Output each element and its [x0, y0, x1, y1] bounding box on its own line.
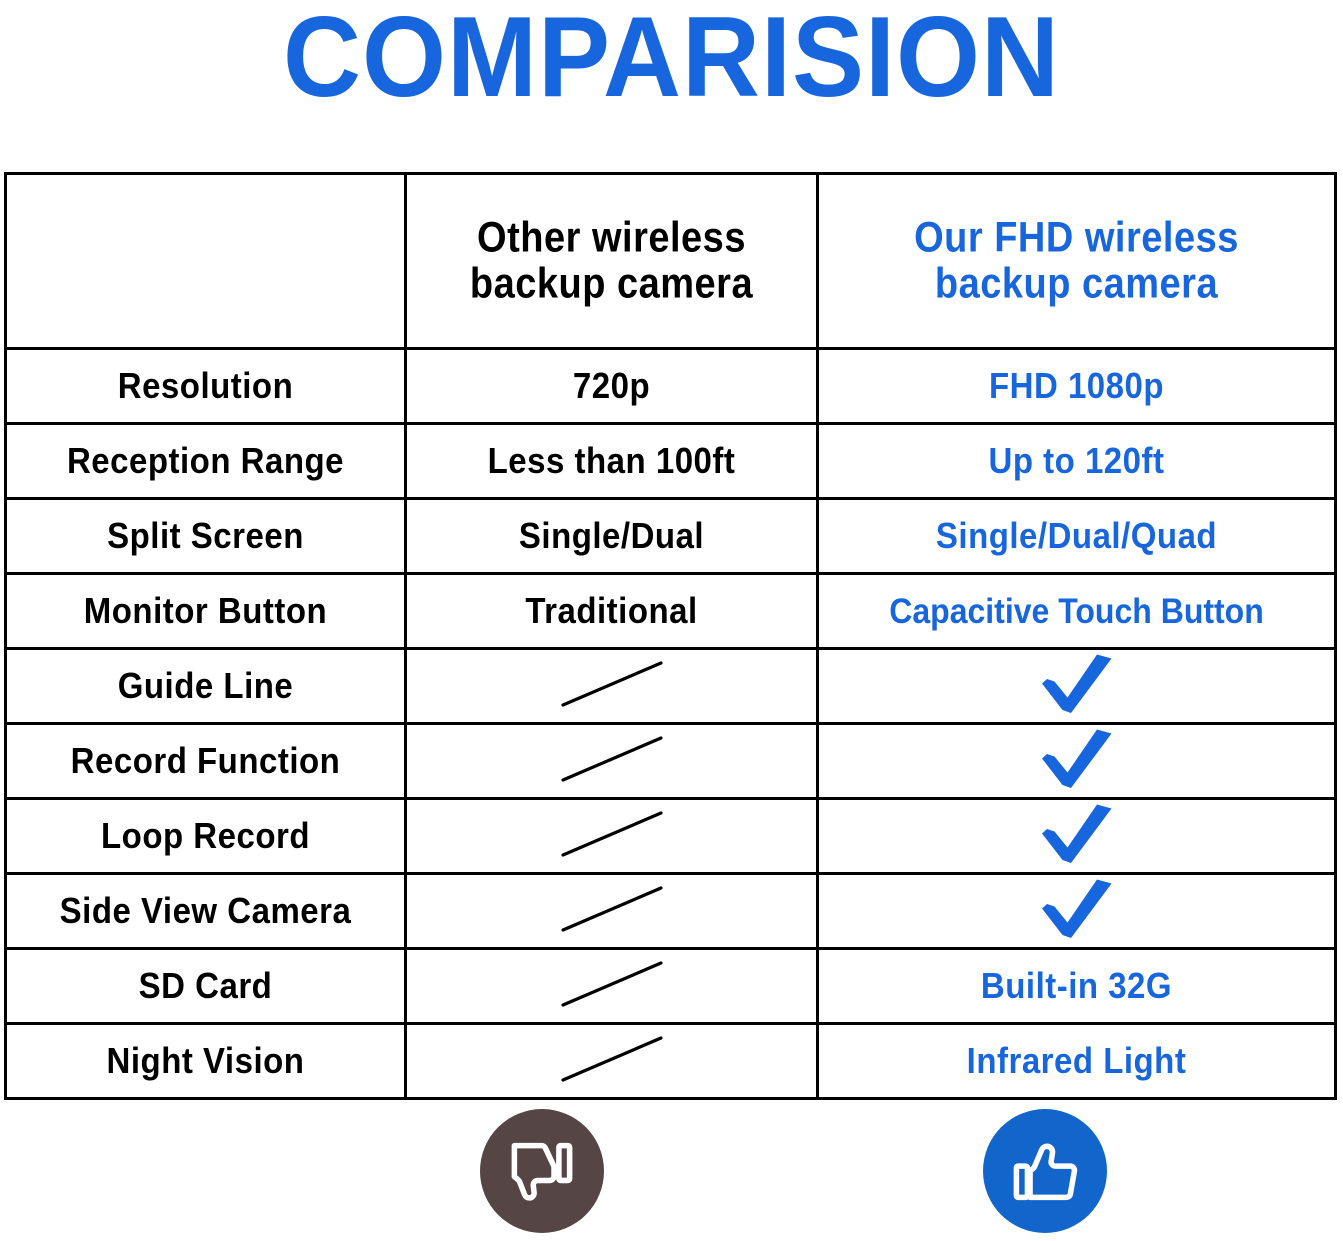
cell-feature: Side View Camera — [6, 874, 406, 949]
feature-label: Monitor Button — [84, 590, 327, 632]
cell-other — [406, 799, 818, 874]
cell-other — [406, 1024, 818, 1099]
table-row: Night VisionInfrared Light — [6, 1024, 1336, 1099]
ours-value: Single/Dual/Quad — [936, 515, 1217, 557]
cell-ours: Capacitive Touch Button — [818, 574, 1336, 649]
cell-other — [406, 724, 818, 799]
footer-icons-row — [4, 1104, 1337, 1241]
feature-label: Record Function — [71, 740, 341, 782]
cell-feature: Guide Line — [6, 649, 406, 724]
feature-label: Reception Range — [67, 440, 344, 482]
cell-ours — [818, 724, 1336, 799]
cell-feature: Monitor Button — [6, 574, 406, 649]
table-row: Monitor ButtonTraditionalCapacitive Touc… — [6, 574, 1336, 649]
table-row: Record Function — [6, 724, 1336, 799]
feature-label: Night Vision — [107, 1040, 305, 1082]
cell-feature: Resolution — [6, 349, 406, 424]
cell-ours — [818, 799, 1336, 874]
cell-feature: Split Screen — [6, 499, 406, 574]
feature-label: Loop Record — [101, 815, 310, 857]
table-row: Loop Record — [6, 799, 1336, 874]
checkmark-icon — [1040, 803, 1114, 865]
checkmark-icon — [1040, 878, 1114, 940]
cell-ours: Single/Dual/Quad — [818, 499, 1336, 574]
header-ours-line2: backup camera — [935, 258, 1218, 310]
ours-value: Infrared Light — [967, 1040, 1187, 1082]
ours-value: Capacitive Touch Button — [889, 590, 1264, 632]
feature-label: Guide Line — [118, 665, 294, 707]
header-other-line2: backup camera — [470, 258, 753, 310]
header-cell-feature — [6, 174, 406, 349]
cell-other — [406, 874, 818, 949]
not-available-slash-icon — [560, 885, 664, 933]
header-cell-other: Other wireless backup camera — [406, 174, 818, 349]
table-body: Other wireless backup camera Our FHD wir… — [6, 174, 1336, 1099]
cell-ours: Up to 120ft — [818, 424, 1336, 499]
table-row: Side View Camera — [6, 874, 1336, 949]
table-row: SD CardBuilt-in 32G — [6, 949, 1336, 1024]
comparison-table: Other wireless backup camera Our FHD wir… — [4, 172, 1337, 1100]
ours-value: FHD 1080p — [989, 365, 1164, 407]
table-header-row: Other wireless backup camera Our FHD wir… — [6, 174, 1336, 349]
cell-feature: Night Vision — [6, 1024, 406, 1099]
thumbs-up-badge — [983, 1109, 1107, 1233]
other-value: Traditional — [525, 590, 697, 632]
not-available-slash-icon — [560, 1035, 664, 1083]
feature-label: Resolution — [118, 365, 294, 407]
checkmark-icon — [1040, 728, 1114, 790]
header-other-line1: Other wireless — [477, 212, 746, 264]
checkmark-icon — [1040, 653, 1114, 715]
cell-feature: SD Card — [6, 949, 406, 1024]
other-value: Less than 100ft — [488, 440, 736, 482]
cell-ours — [818, 874, 1336, 949]
cell-ours: Infrared Light — [818, 1024, 1336, 1099]
not-available-slash-icon — [560, 810, 664, 858]
cell-ours: Built-in 32G — [818, 949, 1336, 1024]
cell-feature: Reception Range — [6, 424, 406, 499]
cell-other: Traditional — [406, 574, 818, 649]
comparison-page: COMPARISION Other wireless backup camera… — [0, 0, 1343, 1241]
cell-other: 720p — [406, 349, 818, 424]
thumbs-down-badge — [480, 1109, 604, 1233]
table-row: Guide Line — [6, 649, 1336, 724]
not-available-slash-icon — [560, 660, 664, 708]
cell-feature: Loop Record — [6, 799, 406, 874]
not-available-slash-icon — [560, 735, 664, 783]
cell-other: Single/Dual — [406, 499, 818, 574]
feature-label: SD Card — [139, 965, 273, 1007]
header-cell-ours: Our FHD wireless backup camera — [818, 174, 1336, 349]
other-value: Single/Dual — [519, 515, 704, 557]
cell-other — [406, 649, 818, 724]
cell-other: Less than 100ft — [406, 424, 818, 499]
header-ours-line1: Our FHD wireless — [914, 212, 1239, 264]
feature-label: Split Screen — [107, 515, 304, 557]
cell-other — [406, 949, 818, 1024]
other-value: 720p — [573, 365, 650, 407]
cell-ours: FHD 1080p — [818, 349, 1336, 424]
not-available-slash-icon — [560, 960, 664, 1008]
table-row: Reception RangeLess than 100ftUp to 120f… — [6, 424, 1336, 499]
cell-ours — [818, 649, 1336, 724]
page-title: COMPARISION — [0, 0, 1343, 119]
table-row: Split ScreenSingle/DualSingle/Dual/Quad — [6, 499, 1336, 574]
ours-value: Built-in 32G — [981, 965, 1172, 1007]
cell-feature: Record Function — [6, 724, 406, 799]
table-row: Resolution720pFHD 1080p — [6, 349, 1336, 424]
ours-value: Up to 120ft — [988, 440, 1164, 482]
feature-label: Side View Camera — [60, 890, 352, 932]
